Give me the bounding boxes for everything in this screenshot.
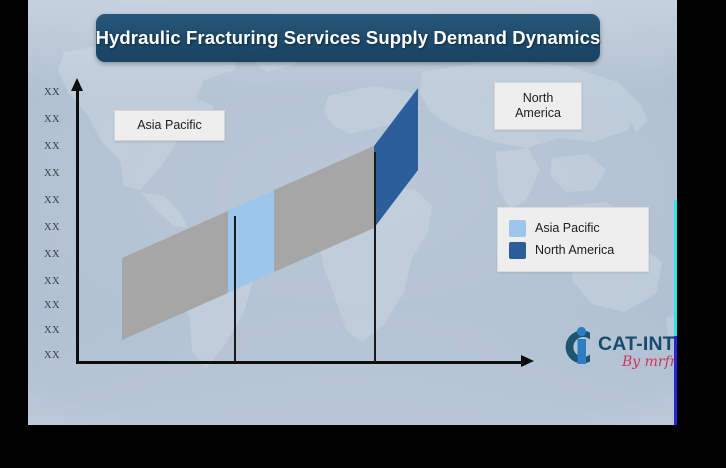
logo-wordmark: CAT-INTEL	[598, 333, 677, 356]
legend-swatch-asia-pacific	[509, 220, 526, 237]
x-axis-arrow-icon	[521, 355, 534, 367]
y-tick-label: XX	[37, 222, 67, 233]
legend-item-asia-pacific: Asia Pacific	[509, 217, 637, 239]
callout-north-america: North America	[494, 82, 582, 130]
legend-item-north-america: North America	[509, 239, 637, 261]
y-tick-label: XX	[37, 195, 67, 206]
legend-swatch-north-america	[509, 242, 526, 259]
chart-legend: Asia Pacific North America	[497, 207, 649, 272]
edge-indicator-blue[interactable]	[674, 336, 677, 425]
band-segment-1	[122, 211, 228, 340]
y-tick-label: XX	[37, 141, 67, 152]
slide-canvas: Hydraulic Fracturing Services Supply Dem…	[28, 0, 677, 425]
band-segment-4	[374, 88, 418, 228]
callout-asia-pacific-label: Asia Pacific	[137, 118, 202, 133]
y-tick-label: XX	[37, 87, 67, 98]
band-segment-3	[274, 146, 374, 272]
segment-divider-line-2	[374, 152, 376, 362]
slide-title-bar: Hydraulic Fracturing Services Supply Dem…	[96, 14, 600, 62]
y-tick-label: XX	[37, 325, 67, 336]
y-axis-arrow-icon	[71, 78, 83, 91]
cat-intel-logo-mark-icon	[556, 326, 602, 368]
page-title: Hydraulic Fracturing Services Supply Dem…	[96, 27, 601, 49]
logo-tagline: By mrfr	[622, 354, 677, 370]
callout-north-america-label: North America	[515, 91, 561, 121]
callout-north-america-line2: America	[515, 106, 561, 120]
callout-asia-pacific: Asia Pacific	[114, 110, 225, 141]
segment-divider-line-1	[234, 216, 236, 362]
legend-label-asia-pacific: Asia Pacific	[535, 221, 600, 235]
callout-north-america-line1: North	[523, 91, 554, 105]
y-tick-label: XX	[37, 276, 67, 287]
y-tick-label: XX	[37, 300, 67, 311]
y-tick-label: XX	[37, 168, 67, 179]
y-axis-line	[76, 88, 79, 363]
y-tick-label: XX	[37, 114, 67, 125]
edge-indicator-cyan[interactable]	[674, 200, 677, 336]
x-axis-line	[76, 361, 524, 364]
screenshot-root: Hydraulic Fracturing Services Supply Dem…	[0, 0, 726, 468]
legend-label-north-america: North America	[535, 243, 614, 257]
cat-intel-logo: CAT-INTEL By mrfr	[556, 325, 677, 381]
y-tick-label: XX	[37, 249, 67, 260]
y-tick-label: XX	[37, 350, 67, 361]
